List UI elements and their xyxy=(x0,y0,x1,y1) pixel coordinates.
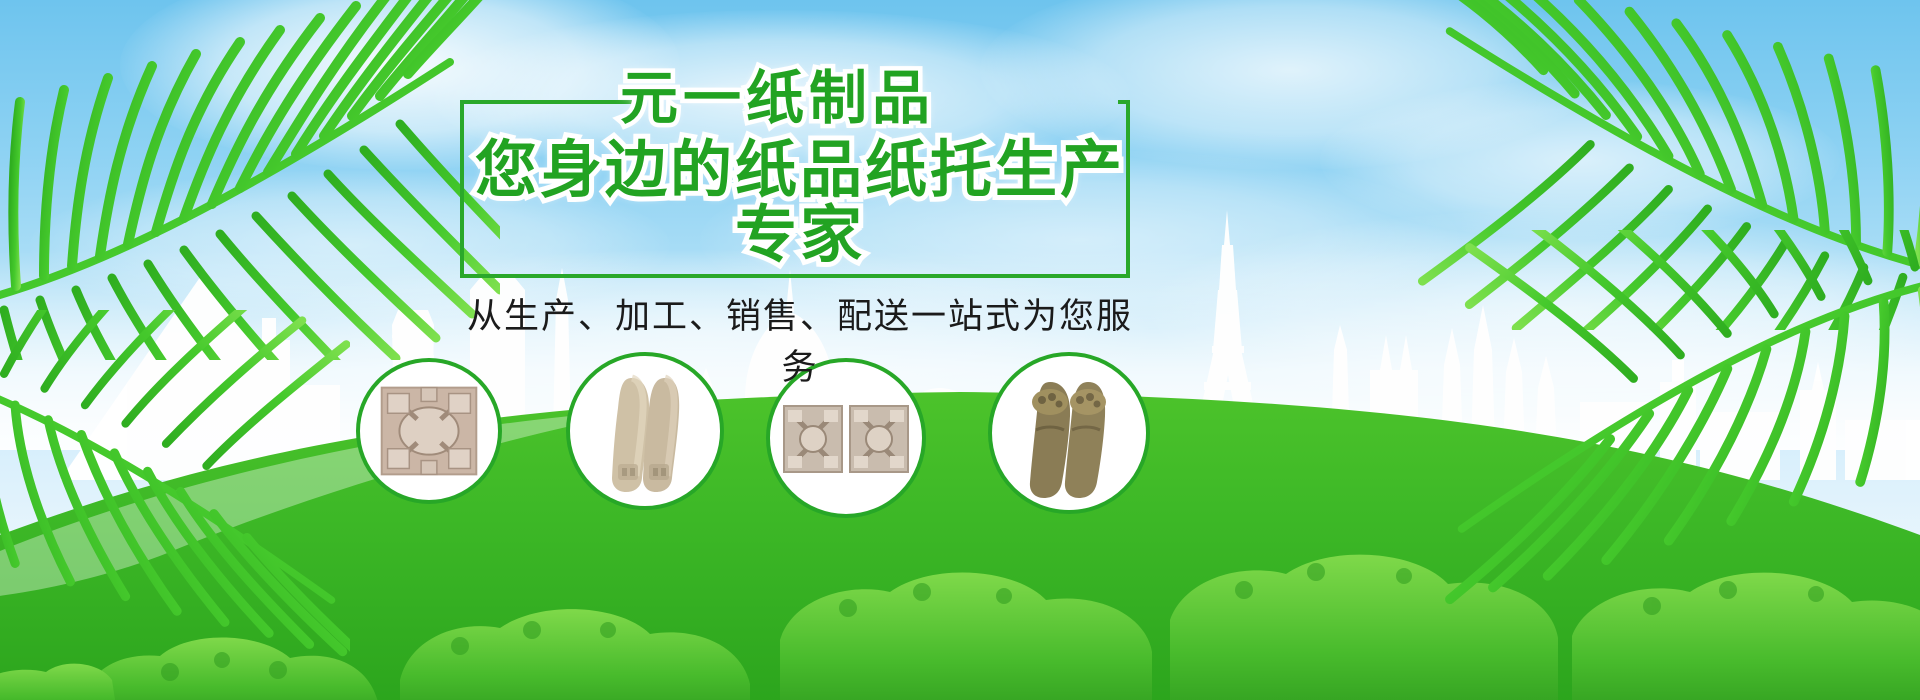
subtitle-text: 从生产、加工、销售、配送一站式为您服务 xyxy=(450,288,1150,390)
headline-line-1: 元一纸制品 xyxy=(620,70,1150,128)
headline-line-2: 您身边的纸品纸托生产专家 xyxy=(450,138,1150,268)
promo-banner: 元一纸制品 您身边的纸品纸托生产专家 从生产、加工、销售、配送一站式为您服务 纸… xyxy=(0,0,1920,700)
headline-group: 元一纸制品 您身边的纸品纸托生产专家 xyxy=(450,70,1150,268)
